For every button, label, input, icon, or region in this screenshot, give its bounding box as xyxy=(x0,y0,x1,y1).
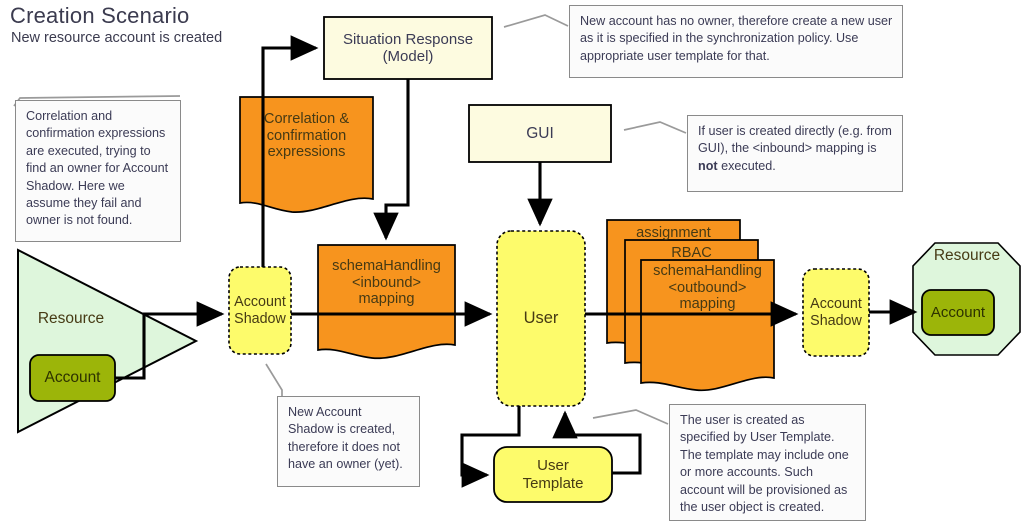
account-right-box xyxy=(922,290,994,335)
correlation-line2: confirmation xyxy=(267,128,347,145)
note-correlation: Correlation and confirmation expressions… xyxy=(15,100,181,242)
gui-label: GUI xyxy=(469,105,611,162)
account-shadow-right-box xyxy=(803,269,869,356)
user-box xyxy=(497,231,585,406)
situation-response-box xyxy=(324,17,492,79)
rbac-document xyxy=(625,240,758,370)
situation-response-line2: (Model) xyxy=(383,48,434,65)
account-right-label: Account xyxy=(922,290,994,335)
schema-inbound-label: schemaHandling <inbound> mapping xyxy=(318,248,455,318)
connector-situation-to-schema-inbound xyxy=(386,79,408,238)
user-template-box xyxy=(494,447,612,502)
note-gui-inbound: If user is created directly (e.g. from G… xyxy=(687,115,903,192)
schema-inbound-line1: schemaHandling xyxy=(332,258,441,275)
note-gui-inbound-suffix: executed. xyxy=(718,159,776,173)
account-shadow-right-line1: Account xyxy=(810,296,862,312)
note-new-account: New account has no owner, therefore crea… xyxy=(569,5,903,78)
connector-user-to-template xyxy=(462,406,519,475)
page-subtitle: New resource account is created xyxy=(11,30,222,46)
note-gui-inbound-prefix: If user is created directly (e.g. from G… xyxy=(698,124,892,155)
shapes-and-connectors xyxy=(0,0,1026,521)
resource-right-octagon xyxy=(913,243,1020,355)
page-title: Creation Scenario xyxy=(10,3,190,29)
note-user-template: The user is created as specified by User… xyxy=(669,404,866,521)
resource-left-label: Resource xyxy=(22,307,120,331)
assignment-document xyxy=(607,220,740,350)
account-shadow-left-line2: Shadow xyxy=(234,311,286,327)
account-left-box xyxy=(30,355,115,401)
diagram-canvas: Creation Scenario New resource account i… xyxy=(0,0,1026,521)
account-shadow-left-line1: Account xyxy=(234,294,286,310)
account-shadow-left-box xyxy=(229,267,291,354)
user-template-line2: Template xyxy=(523,475,584,492)
correlation-line1: Correlation & xyxy=(264,111,349,128)
schema-outbound-document xyxy=(641,260,774,390)
account-left-label: Account xyxy=(30,355,115,401)
rbac-label: RBAC xyxy=(625,241,758,265)
schema-outbound-line3: mapping xyxy=(680,296,736,313)
correlation-expressions-document xyxy=(240,97,373,212)
correlation-line3: expressions xyxy=(268,144,346,161)
leader-new-account-note xyxy=(504,15,568,27)
gui-box xyxy=(469,105,611,162)
connector-shadow-to-situation xyxy=(263,48,316,267)
resource-right-label: Resource xyxy=(912,243,1022,269)
note-new-shadow: New Account Shadow is created, therefore… xyxy=(277,396,420,487)
situation-response-line1: Situation Response xyxy=(343,31,473,48)
correlation-expressions-label: Correlation & confirmation expressions xyxy=(240,100,373,172)
user-label: User xyxy=(497,231,585,406)
schema-outbound-line2: <outbound> xyxy=(669,280,747,297)
account-shadow-right-line2: Shadow xyxy=(810,313,862,329)
situation-response-label: Situation Response (Model) xyxy=(324,17,492,79)
account-shadow-right-label: Account Shadow xyxy=(801,269,871,356)
schema-outbound-line1: schemaHandling xyxy=(653,263,762,280)
schema-outbound-label: schemaHandling <outbound> mapping xyxy=(641,263,774,333)
user-template-label: User Template xyxy=(494,447,612,502)
assignment-label: assignment xyxy=(607,221,740,245)
note-gui-inbound-bold: not xyxy=(698,159,718,173)
resource-left-triangle xyxy=(18,250,196,432)
schema-inbound-document xyxy=(318,245,455,358)
leader-user-template-note xyxy=(593,410,668,424)
leader-gui-note xyxy=(624,122,686,133)
schema-inbound-line3: mapping xyxy=(359,291,415,308)
user-template-line1: User xyxy=(537,457,569,474)
connector-template-to-user xyxy=(565,413,640,473)
leader-new-shadow-note xyxy=(266,364,282,397)
account-shadow-left-label: Account Shadow xyxy=(226,267,294,354)
connector-account-to-shadow xyxy=(115,314,222,378)
schema-inbound-line2: <inbound> xyxy=(352,275,421,292)
